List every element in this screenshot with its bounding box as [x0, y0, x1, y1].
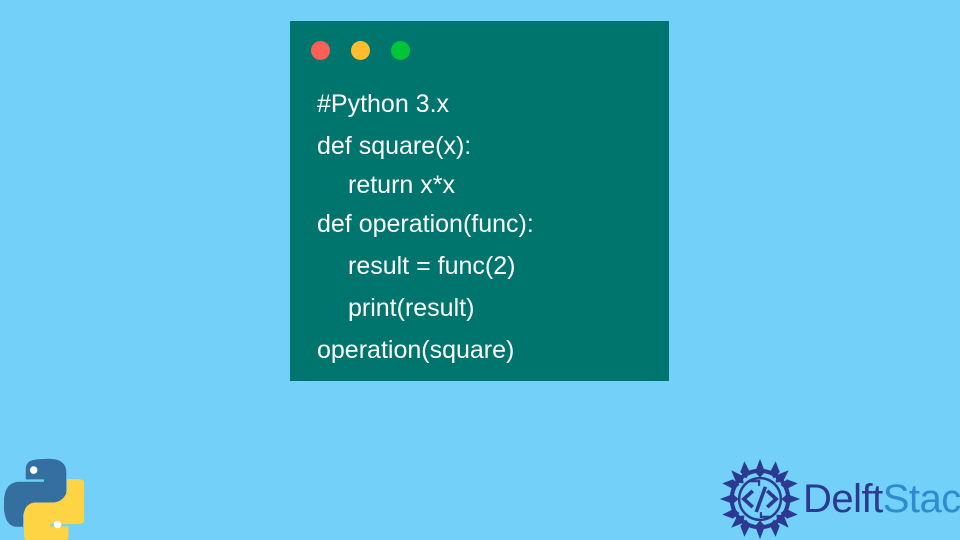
code-window: #Python 3.x def square(x): return x*x de…: [290, 21, 669, 381]
python-logo: [4, 452, 84, 540]
code-window-titlebar: [290, 21, 669, 79]
delftstack-emblem-icon: [719, 458, 801, 540]
delftstack-logo: DelftStack: [719, 458, 960, 540]
code-line-6: print(result): [317, 287, 662, 329]
window-maximize-dot[interactable]: [391, 41, 410, 60]
code-line-5: result = func(2): [317, 245, 662, 287]
delftstack-wordmark: DelftStack: [803, 479, 960, 519]
code-block: #Python 3.x def square(x): return x*x de…: [317, 83, 662, 371]
code-line-7: operation(square): [317, 329, 662, 371]
delftstack-wordmark-stack: Stack: [883, 477, 960, 521]
code-line-4: def operation(func):: [317, 203, 662, 245]
delftstack-wordmark-delft: Delft: [803, 477, 883, 521]
slide-canvas: #Python 3.x def square(x): return x*x de…: [0, 0, 960, 540]
window-close-dot[interactable]: [311, 41, 330, 60]
code-line-3: return x*x: [317, 167, 662, 203]
code-line-2: def square(x):: [317, 125, 662, 167]
code-line-1: #Python 3.x: [317, 83, 662, 125]
window-minimize-dot[interactable]: [351, 41, 370, 60]
